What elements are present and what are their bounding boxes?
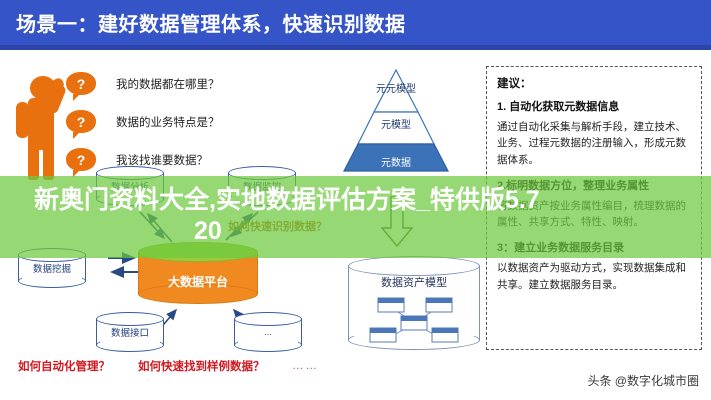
panel-item-title-3: 3：建立业务数据服务目录	[497, 239, 691, 255]
cylinder-others: ...	[234, 312, 302, 352]
down-arrow-icon	[380, 196, 414, 248]
panel-item-body-2: 将数据资产按业务属性编目，梳理数据的属性、共享方式、特性、映射。	[497, 198, 691, 231]
pyramid-level-label-3: 元数据	[330, 154, 462, 169]
panel-item-title-2: 2.标明数据方位，整理业务属性	[497, 177, 691, 193]
cylinder-data-mining: 数据挖掘	[18, 248, 86, 288]
pyramid-level-label-1: 元元模型	[330, 80, 462, 95]
platform-label: 大数据平台	[138, 250, 258, 312]
person-icon	[14, 72, 68, 180]
panel-item-body-3: 以数据资产为驱动方式，实现数据集成和共享。建立数据服务目录。	[497, 260, 691, 293]
identify-data-question: 如何快速识别数据？	[228, 218, 327, 234]
panel-item-title-1: 1. 自动化获取元数据信息	[497, 98, 691, 114]
page-title: 场景一：建好数据管理体系，快速识别数据	[0, 8, 406, 37]
pyramid-level-label-2: 元模型	[330, 116, 462, 131]
cylinder-label: 数据挖掘	[18, 248, 86, 288]
panel-heading: 建议：	[497, 75, 691, 91]
asset-model-label: 数据资产模型	[348, 274, 480, 290]
cylinder-label: ...	[234, 312, 302, 352]
question-bubble-icon-1: ?	[66, 72, 96, 95]
corner-watermark: 头条 @数字化城市圈	[587, 372, 699, 389]
cylinder-data-monitoring: 数据监控	[228, 166, 296, 206]
bottom-question-2: 如何快速找到样例数据？	[138, 358, 265, 374]
question-text-1: 我的数据都在哪里？	[116, 76, 220, 92]
metadata-pyramid: 元元模型 元模型 元数据	[330, 68, 462, 186]
bottom-question-ellipsis: ……	[292, 360, 319, 372]
er-diagram-icon	[348, 290, 480, 346]
question-text-2: 数据的业务特点是？	[116, 114, 220, 130]
recommendation-panel: 建议： 1. 自动化获取元数据信息 通过自动化采集与解析手段，建立技术、业务、过…	[486, 66, 702, 350]
panel-item-body-1: 通过自动化采集与解析手段，建立技术、业务、过程元数据的注册输入，形成元数据体系。	[497, 119, 691, 168]
cylinder-label: 数据分析	[96, 166, 164, 206]
cylinder-data-analysis: 数据分析	[96, 166, 164, 206]
cylinder-label: 数据接口	[96, 312, 164, 352]
cylinder-label: 数据监控	[228, 166, 296, 206]
cylinder-data-interface: 数据接口	[96, 312, 164, 352]
slide-header-banner: 场景一：建好数据管理体系，快速识别数据	[0, 0, 711, 45]
question-bubble-icon-3: ?	[66, 148, 96, 171]
slide-canvas: 场景一：建好数据管理体系，快速识别数据 ? ? ? 我的数据都在哪里？ 数据的业…	[0, 0, 711, 400]
header-divider-rule	[0, 45, 711, 50]
question-bubble-icon-2: ?	[66, 110, 96, 133]
big-data-platform-cylinder: 大数据平台	[138, 242, 258, 304]
bottom-question-1: 如何自动化管理？	[18, 358, 110, 374]
data-asset-model-cylinder: 数据资产模型	[348, 256, 480, 350]
